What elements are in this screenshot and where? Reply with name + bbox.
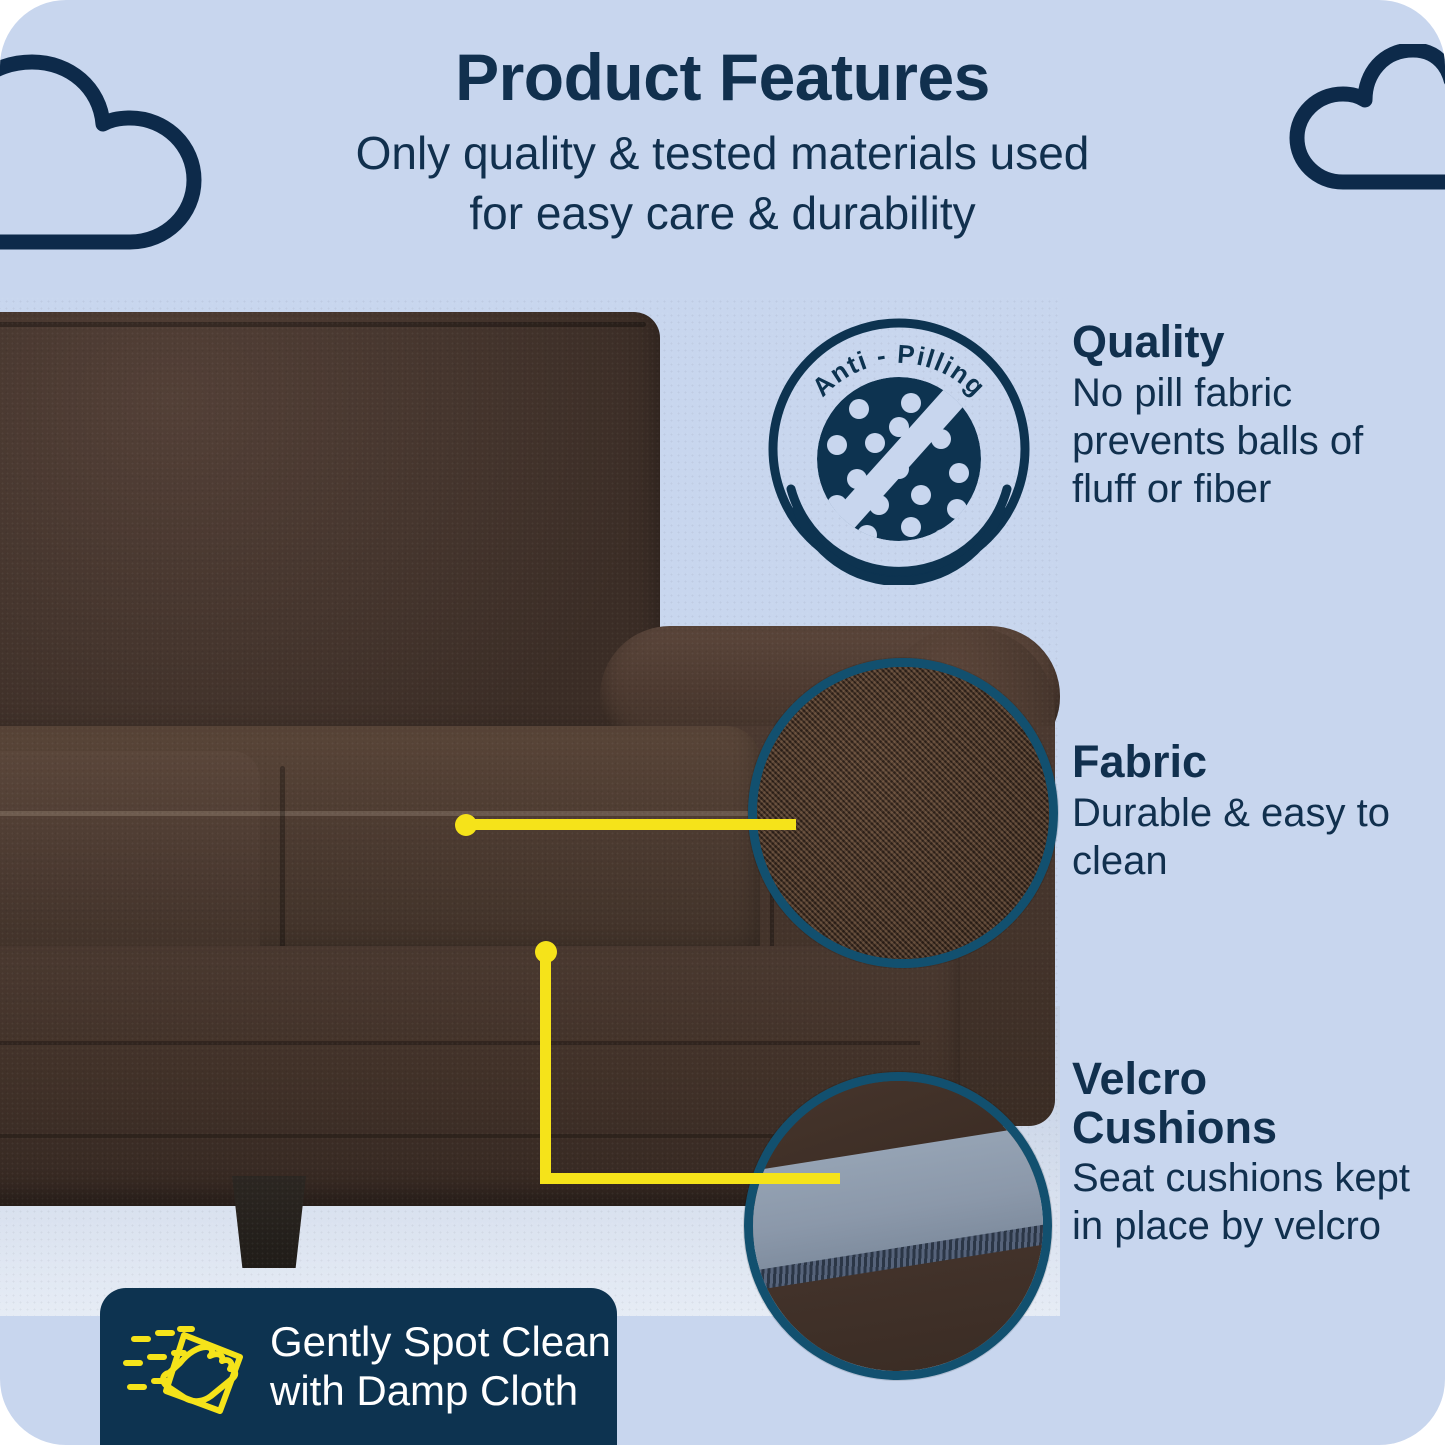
subtitle-line-2: for easy care & durability [0, 184, 1445, 244]
fabric-closeup-circle [748, 658, 1058, 968]
velcro-leader-line-vertical [540, 952, 551, 1179]
infographic-canvas: Product Features Only quality & tested m… [0, 0, 1445, 1445]
fabric-leader-line [466, 819, 796, 830]
hand-wiping-cloth-icon [122, 1313, 250, 1421]
care-instruction-badge: Gently Spot Clean with Damp Cloth [100, 1288, 617, 1445]
care-line-1: Gently Spot Clean [270, 1318, 611, 1367]
feature-quality-body: No pill fabric prevents balls of fluff o… [1072, 369, 1417, 513]
sofa-leg [232, 1176, 306, 1268]
page-subtitle: Only quality & tested materials used for… [0, 124, 1445, 244]
feature-quality-heading: Quality [1072, 318, 1417, 367]
feature-fabric: Fabric Durable & easy to clean [1072, 738, 1422, 885]
feature-quality: Quality No pill fabric prevents balls of… [1072, 318, 1417, 513]
sofa-seat-piping [0, 811, 760, 816]
feature-fabric-body: Durable & easy to clean [1072, 789, 1422, 885]
feature-velcro-body: Seat cushions kept in place by velcro [1072, 1154, 1422, 1250]
sofa-base-seam-1 [0, 1041, 920, 1045]
anti-pilling-badge-icon: Anti - Pilling [763, 313, 1035, 585]
feature-fabric-heading: Fabric [1072, 738, 1422, 787]
feature-velcro: Velcro Cushions Seat cushions kept in pl… [1072, 1055, 1422, 1250]
sofa-back-cushion [0, 312, 660, 752]
feature-velcro-heading: Velcro Cushions [1072, 1055, 1422, 1152]
velcro-closeup-circle [744, 1072, 1052, 1380]
sofa-base-seam-2 [0, 1134, 860, 1138]
header: Product Features Only quality & tested m… [0, 44, 1445, 244]
velcro-leader-line-horizontal [540, 1173, 840, 1184]
fabric-texture [748, 658, 1058, 968]
care-instruction-text: Gently Spot Clean with Damp Cloth [270, 1318, 611, 1415]
page-title: Product Features [0, 44, 1445, 110]
subtitle-line-1: Only quality & tested materials used [0, 124, 1445, 184]
care-line-2: with Damp Cloth [270, 1367, 611, 1416]
